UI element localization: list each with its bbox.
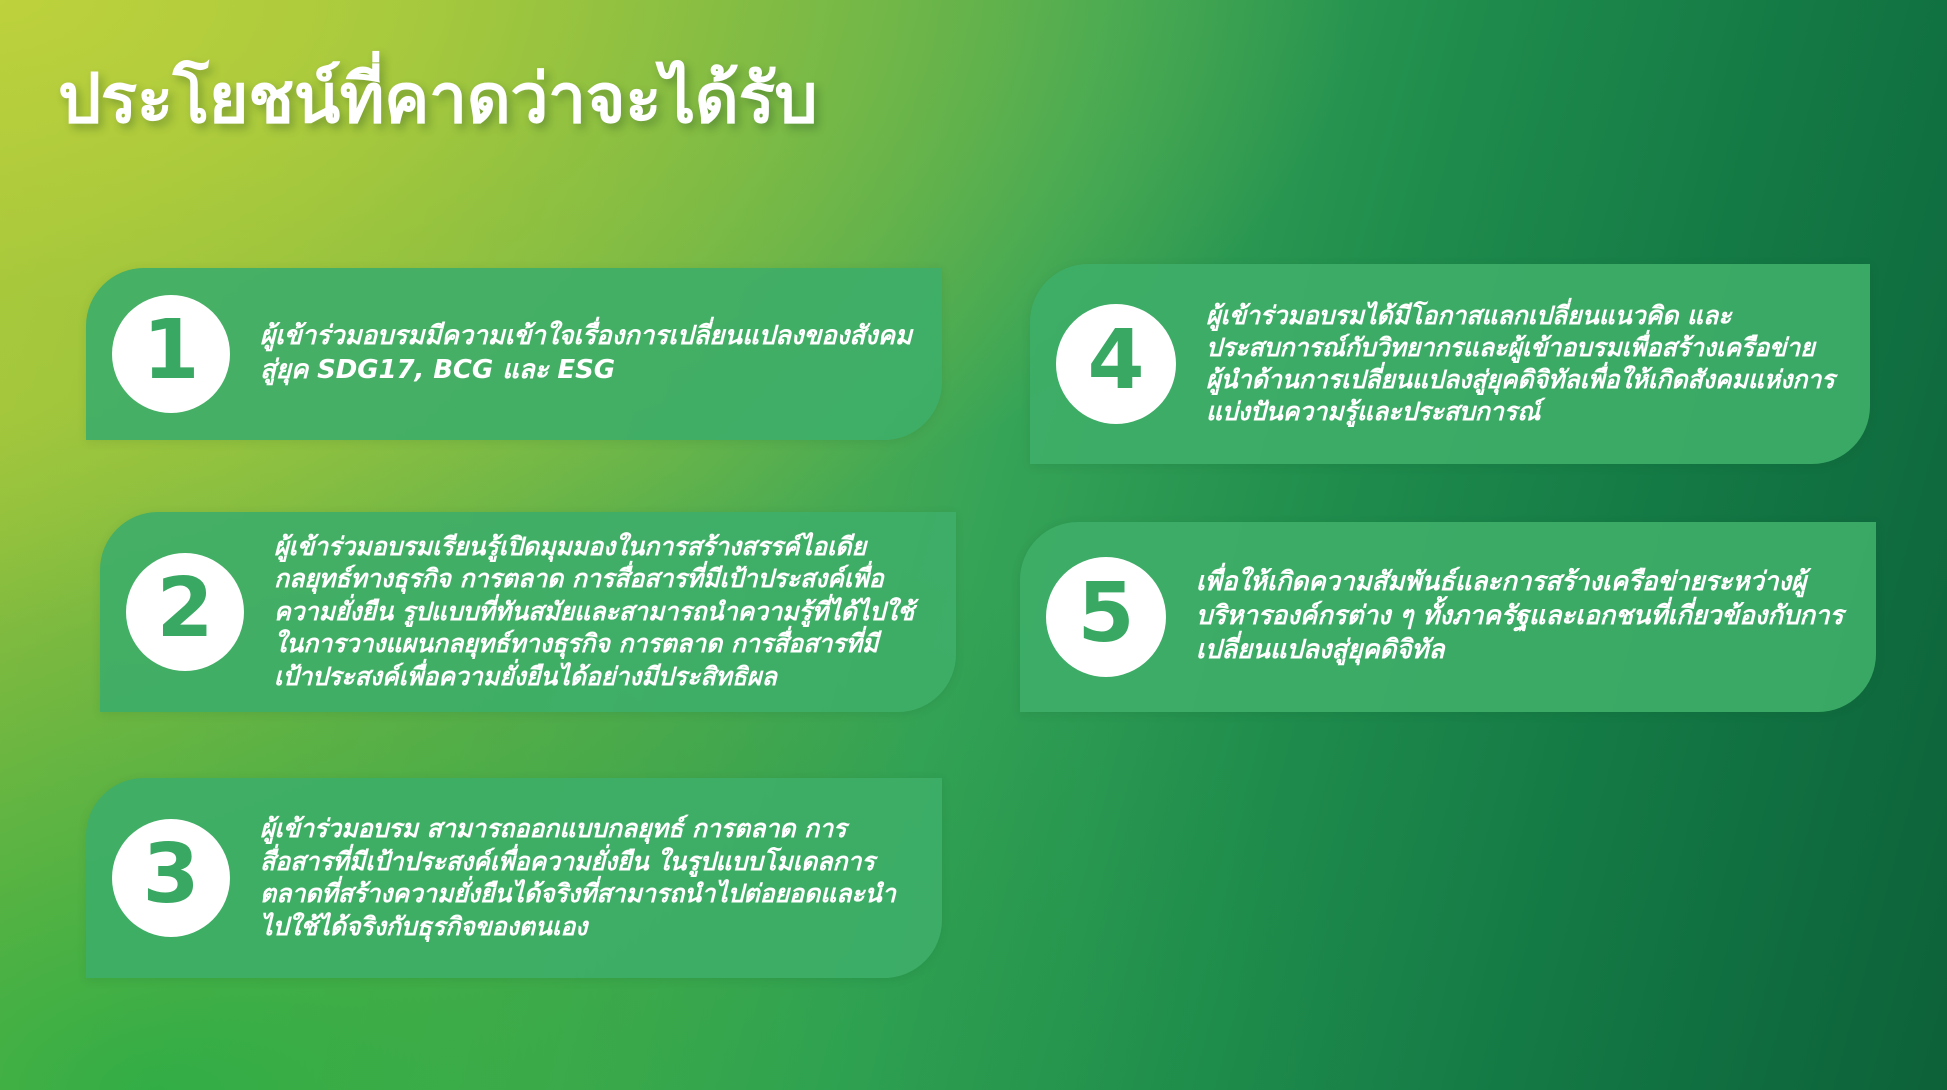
card-inner: 1 ผู้เข้าร่วมอบรมมีความเข้าใจเรื่องการเป… <box>86 268 942 440</box>
card-number-badge-2: 2 <box>126 553 244 671</box>
card-text-2: ผู้เข้าร่วมอบรมเรียนรู้เปิดมุมมองในการสร… <box>274 531 938 694</box>
benefit-card-1: 1 ผู้เข้าร่วมอบรมมีความเข้าใจเรื่องการเป… <box>86 268 942 440</box>
card-text-4: ผู้เข้าร่วมอบรมได้มีโอกาสแลกเปลี่ยนแนวคิ… <box>1206 300 1852 428</box>
card-number-badge-3: 3 <box>112 819 230 937</box>
card-inner: 5 เพื่อให้เกิดความสัมพันธ์และการสร้างเคร… <box>1020 522 1876 712</box>
card-text-3: ผู้เข้าร่วมอบรม สามารถออกแบบกลยุทธ์ การต… <box>260 813 924 943</box>
card-inner: 2 ผู้เข้าร่วมอบรมเรียนรู้เปิดมุมมองในการ… <box>100 512 956 712</box>
card-inner: 4 ผู้เข้าร่วมอบรมได้มีโอกาสแลกเปลี่ยนแนว… <box>1030 264 1870 464</box>
page-title: ประโยชน์ที่คาดว่าจะได้รับ <box>58 62 1158 138</box>
card-text-5: เพื่อให้เกิดความสัมพันธ์และการสร้างเครือ… <box>1196 566 1858 667</box>
card-number-badge-5: 5 <box>1046 557 1166 677</box>
card-number-badge-4: 4 <box>1056 304 1176 424</box>
card-inner: 3 ผู้เข้าร่วมอบรม สามารถออกแบบกลยุทธ์ กา… <box>86 778 942 978</box>
benefit-card-3: 3 ผู้เข้าร่วมอบรม สามารถออกแบบกลยุทธ์ กา… <box>86 778 942 978</box>
benefit-card-2: 2 ผู้เข้าร่วมอบรมเรียนรู้เปิดมุมมองในการ… <box>100 512 956 712</box>
card-number-badge-1: 1 <box>112 295 230 413</box>
card-text-1: ผู้เข้าร่วมอบรมมีความเข้าใจเรื่องการเปลี… <box>260 320 924 388</box>
benefit-card-5: 5 เพื่อให้เกิดความสัมพันธ์และการสร้างเคร… <box>1020 522 1876 712</box>
benefit-card-4: 4 ผู้เข้าร่วมอบรมได้มีโอกาสแลกเปลี่ยนแนว… <box>1030 264 1870 464</box>
